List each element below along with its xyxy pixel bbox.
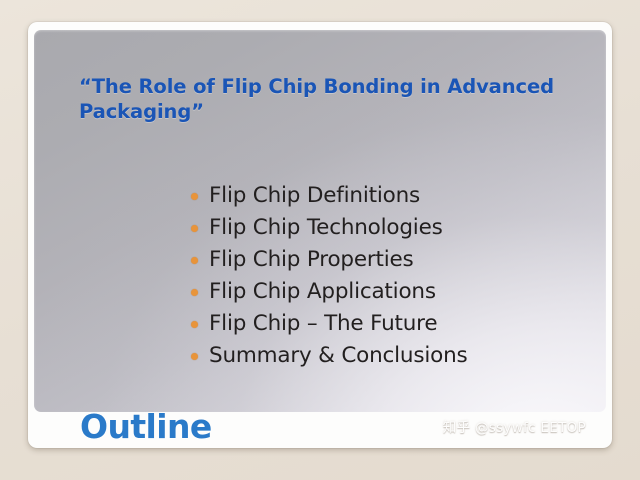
- list-item: Summary & Conclusions: [191, 340, 468, 372]
- bullet-dot-icon: [191, 257, 198, 264]
- bullet-dot-icon: [191, 193, 198, 200]
- slide-surface: “The Role of Flip Chip Bonding in Advanc…: [34, 30, 606, 412]
- outline-bullet-list: Flip Chip Definitions Flip Chip Technolo…: [191, 180, 468, 372]
- list-item: Flip Chip Technologies: [191, 212, 468, 244]
- list-item: Flip Chip Applications: [191, 276, 468, 308]
- slide-page: “The Role of Flip Chip Bonding in Advanc…: [0, 0, 640, 480]
- list-item-label: Flip Chip – The Future: [209, 313, 437, 335]
- list-item-label: Flip Chip Definitions: [209, 185, 420, 207]
- bullet-dot-icon: [191, 353, 198, 360]
- list-item: Flip Chip – The Future: [191, 308, 468, 340]
- list-item-label: Flip Chip Properties: [209, 249, 414, 271]
- list-item-label: Flip Chip Applications: [209, 281, 436, 303]
- bullet-dot-icon: [191, 321, 198, 328]
- list-item-label: Flip Chip Technologies: [209, 217, 443, 239]
- slide-title: “The Role of Flip Chip Bonding in Advanc…: [79, 74, 579, 124]
- watermark: 知乎 @ssywfc EETOP: [443, 416, 586, 436]
- list-item: Flip Chip Properties: [191, 244, 468, 276]
- bullet-dot-icon: [191, 225, 198, 232]
- bullet-dot-icon: [191, 289, 198, 296]
- list-item-label: Summary & Conclusions: [209, 345, 468, 367]
- slide-card: “The Role of Flip Chip Bonding in Advanc…: [28, 22, 612, 448]
- slide-section-label: Outline: [80, 410, 212, 443]
- list-item: Flip Chip Definitions: [191, 180, 468, 212]
